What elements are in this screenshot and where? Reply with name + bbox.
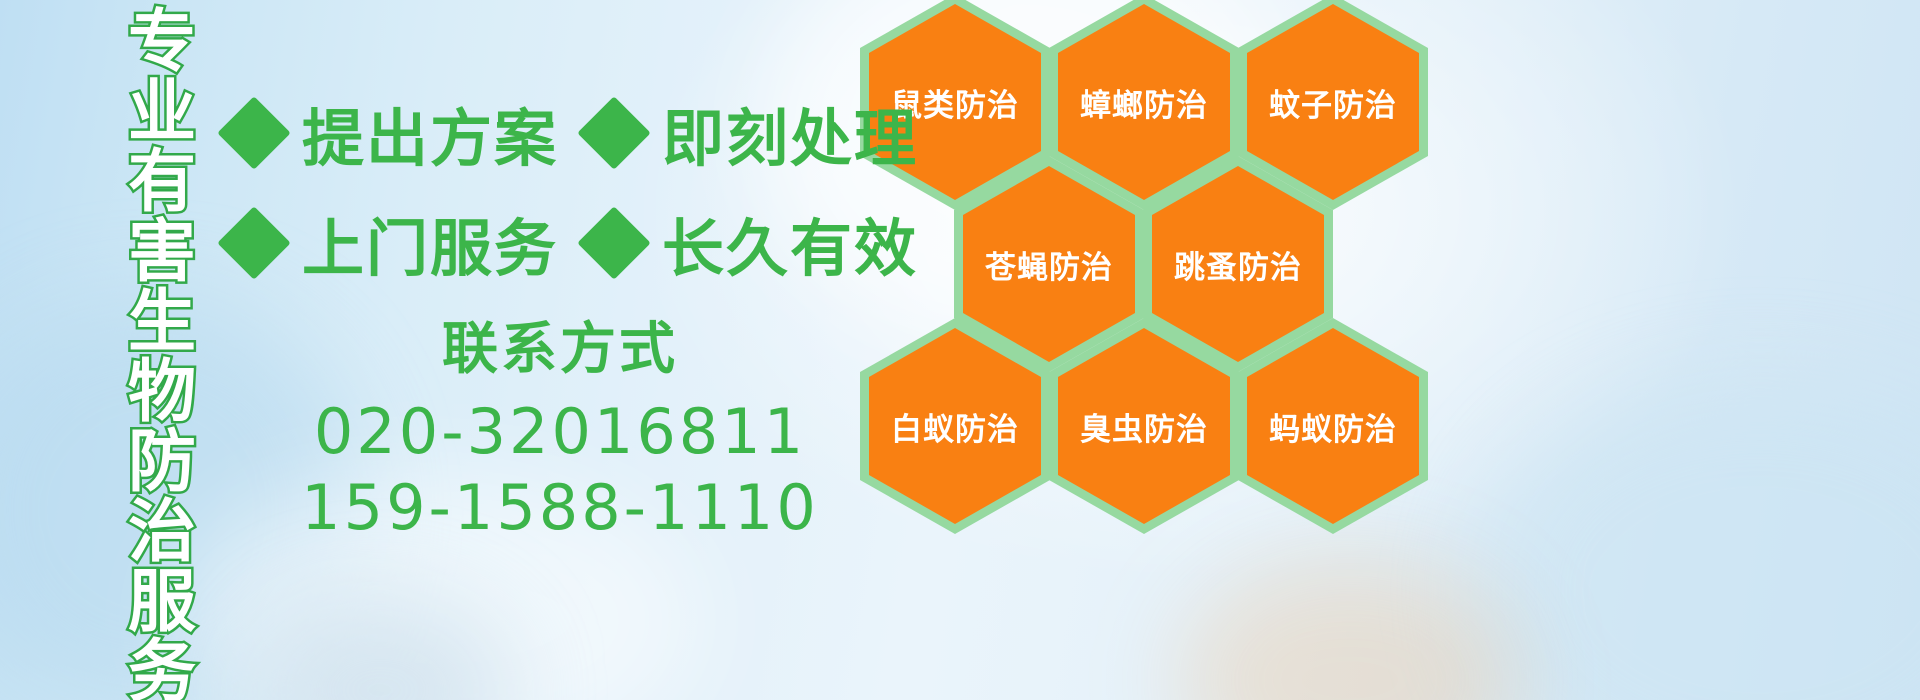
background-blur-blob bbox=[1180, 560, 1520, 700]
diamond-icon bbox=[577, 206, 651, 280]
hex-inner: 蚊子防治 bbox=[1247, 4, 1419, 200]
feature-label: 长久有效 bbox=[662, 198, 918, 288]
feature-item-immediate-handling: 即刻处理 bbox=[588, 88, 918, 178]
feature-label: 即刻处理 bbox=[662, 88, 918, 178]
service-honeycomb: 鼠类防治 蟑螂防治 蚊子防治 苍蝇防治 跳蚤防治 白蚁防治 bbox=[846, 0, 1466, 566]
feature-row: 上门服务 长久有效 bbox=[228, 188, 918, 298]
hex-label: 蚊子防治 bbox=[1269, 80, 1397, 125]
hex-inner: 蚂蚁防治 bbox=[1247, 328, 1419, 524]
vertical-headline-char: 生 bbox=[128, 288, 196, 358]
vertical-headline-char: 有 bbox=[128, 148, 196, 218]
hex-label: 臭虫防治 bbox=[1080, 404, 1208, 449]
hex-label: 苍蝇防治 bbox=[985, 242, 1113, 287]
diamond-icon bbox=[217, 96, 291, 170]
vertical-headline-char: 物 bbox=[128, 358, 196, 428]
hex-label: 蟑螂防治 bbox=[1080, 80, 1208, 125]
feature-row: 提出方案 即刻处理 bbox=[228, 78, 918, 188]
hex-label: 蚂蚁防治 bbox=[1269, 404, 1397, 449]
vertical-headline-char: 务 bbox=[128, 638, 196, 700]
vertical-headline-char: 业 bbox=[128, 78, 196, 148]
feature-label: 提出方案 bbox=[302, 88, 558, 178]
hex-inner: 白蚁防治 bbox=[869, 328, 1041, 524]
hex-inner: 跳蚤防治 bbox=[1152, 166, 1324, 362]
contact-title: 联系方式 bbox=[300, 318, 820, 382]
contact-phone-landline[interactable]: 020-32016811 bbox=[300, 394, 820, 470]
hex-label: 白蚁防治 bbox=[891, 404, 1019, 449]
hex-inner: 臭虫防治 bbox=[1058, 328, 1230, 524]
feature-item-long-lasting-effect: 长久有效 bbox=[588, 198, 918, 288]
hex-inner: 蟑螂防治 bbox=[1058, 4, 1230, 200]
contact-block: 联系方式 020-32016811 159-1588-1110 bbox=[300, 318, 820, 546]
vertical-headline-char: 防 bbox=[128, 428, 196, 498]
pest-control-banner: 专 业 有 害 生 物 防 治 服 务 提出方案 即刻处理 上门服务 bbox=[0, 0, 1920, 700]
hex-label: 跳蚤防治 bbox=[1174, 242, 1302, 287]
vertical-headline-char: 治 bbox=[128, 498, 196, 568]
feature-item-propose-plan: 提出方案 bbox=[228, 88, 558, 178]
vertical-headline-char: 专 bbox=[128, 8, 196, 78]
diamond-icon bbox=[577, 96, 651, 170]
hex-inner: 苍蝇防治 bbox=[963, 166, 1135, 362]
feature-item-door-to-door-service: 上门服务 bbox=[228, 198, 558, 288]
contact-phone-mobile[interactable]: 159-1588-1110 bbox=[300, 470, 820, 546]
feature-list: 提出方案 即刻处理 上门服务 长久有效 bbox=[228, 78, 918, 298]
background-blur-blob bbox=[250, 600, 510, 700]
background-blur-blob bbox=[1480, 380, 1920, 700]
vertical-headline-char: 害 bbox=[128, 218, 196, 288]
diamond-icon bbox=[217, 206, 291, 280]
vertical-headline-char: 服 bbox=[128, 568, 196, 638]
feature-label: 上门服务 bbox=[302, 198, 558, 288]
vertical-headline: 专 业 有 害 生 物 防 治 服 务 bbox=[104, 8, 220, 656]
